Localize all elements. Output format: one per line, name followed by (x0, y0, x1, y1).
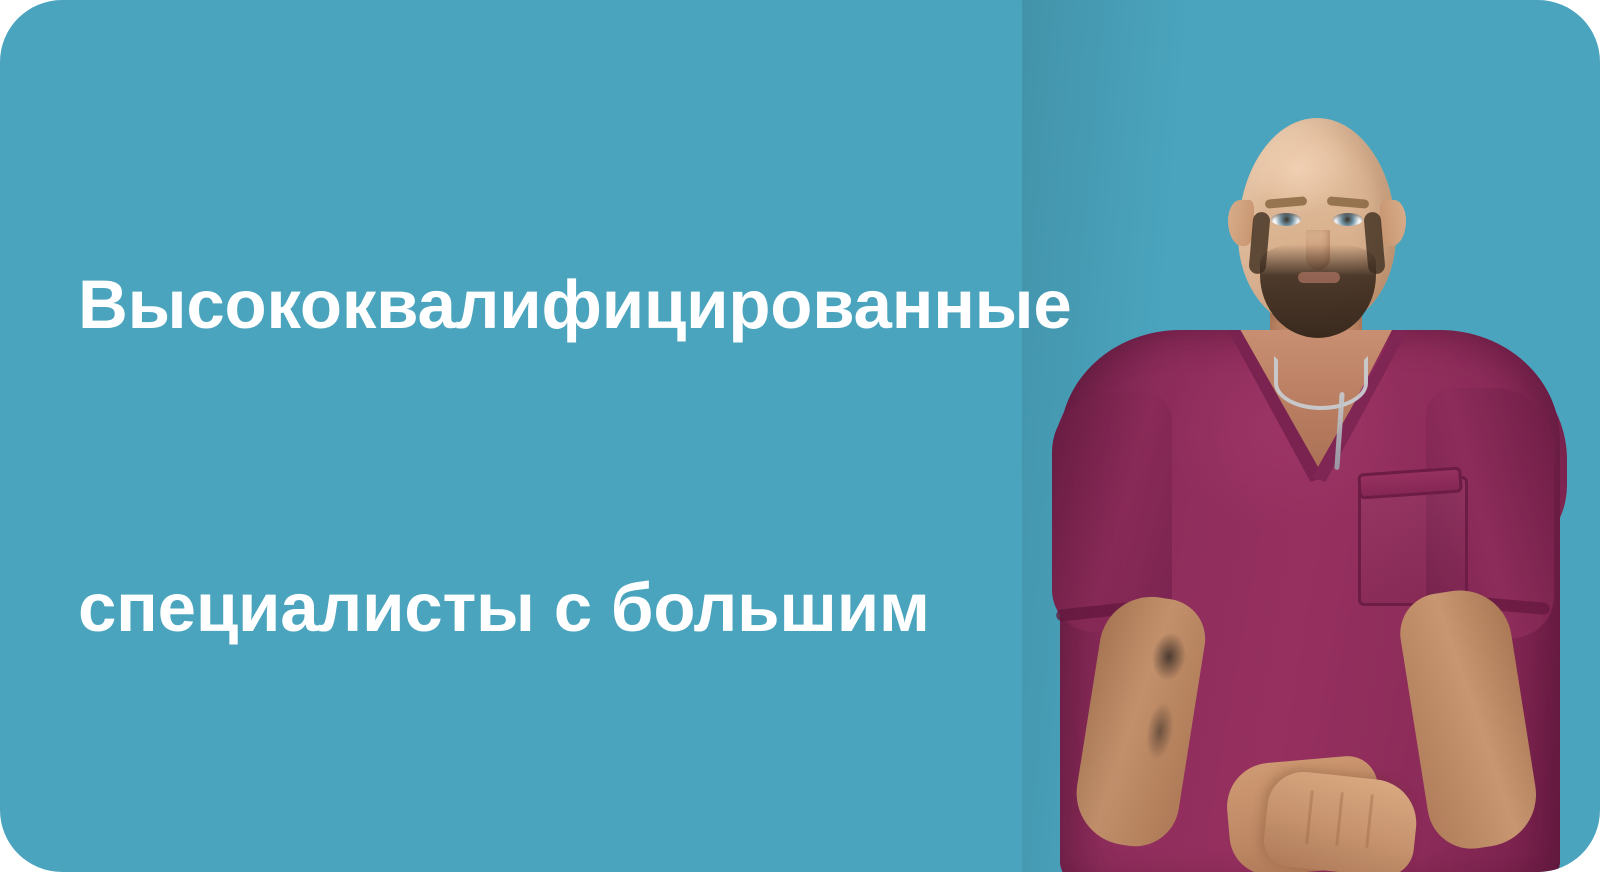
banner-root: Высококвалифицированные специалисты с бо… (0, 0, 1600, 872)
headline-line-1: Высококвалифицированные (78, 254, 1088, 355)
chain-necklace (1274, 356, 1368, 410)
eye-right (1333, 213, 1363, 226)
mouth (1298, 272, 1340, 283)
doctor-photo (1022, 0, 1600, 872)
promo-banner-card: Высококвалифицированные специалисты с бо… (0, 0, 1600, 872)
banner-headline: Высококвалифицированные специалисты с бо… (78, 52, 1088, 872)
eye-left (1271, 213, 1301, 226)
ear-left (1228, 200, 1254, 246)
ear-right (1380, 200, 1406, 246)
headline-line-3: стажем практики (78, 860, 1088, 872)
headline-line-2: специалисты с большим (78, 557, 1088, 658)
